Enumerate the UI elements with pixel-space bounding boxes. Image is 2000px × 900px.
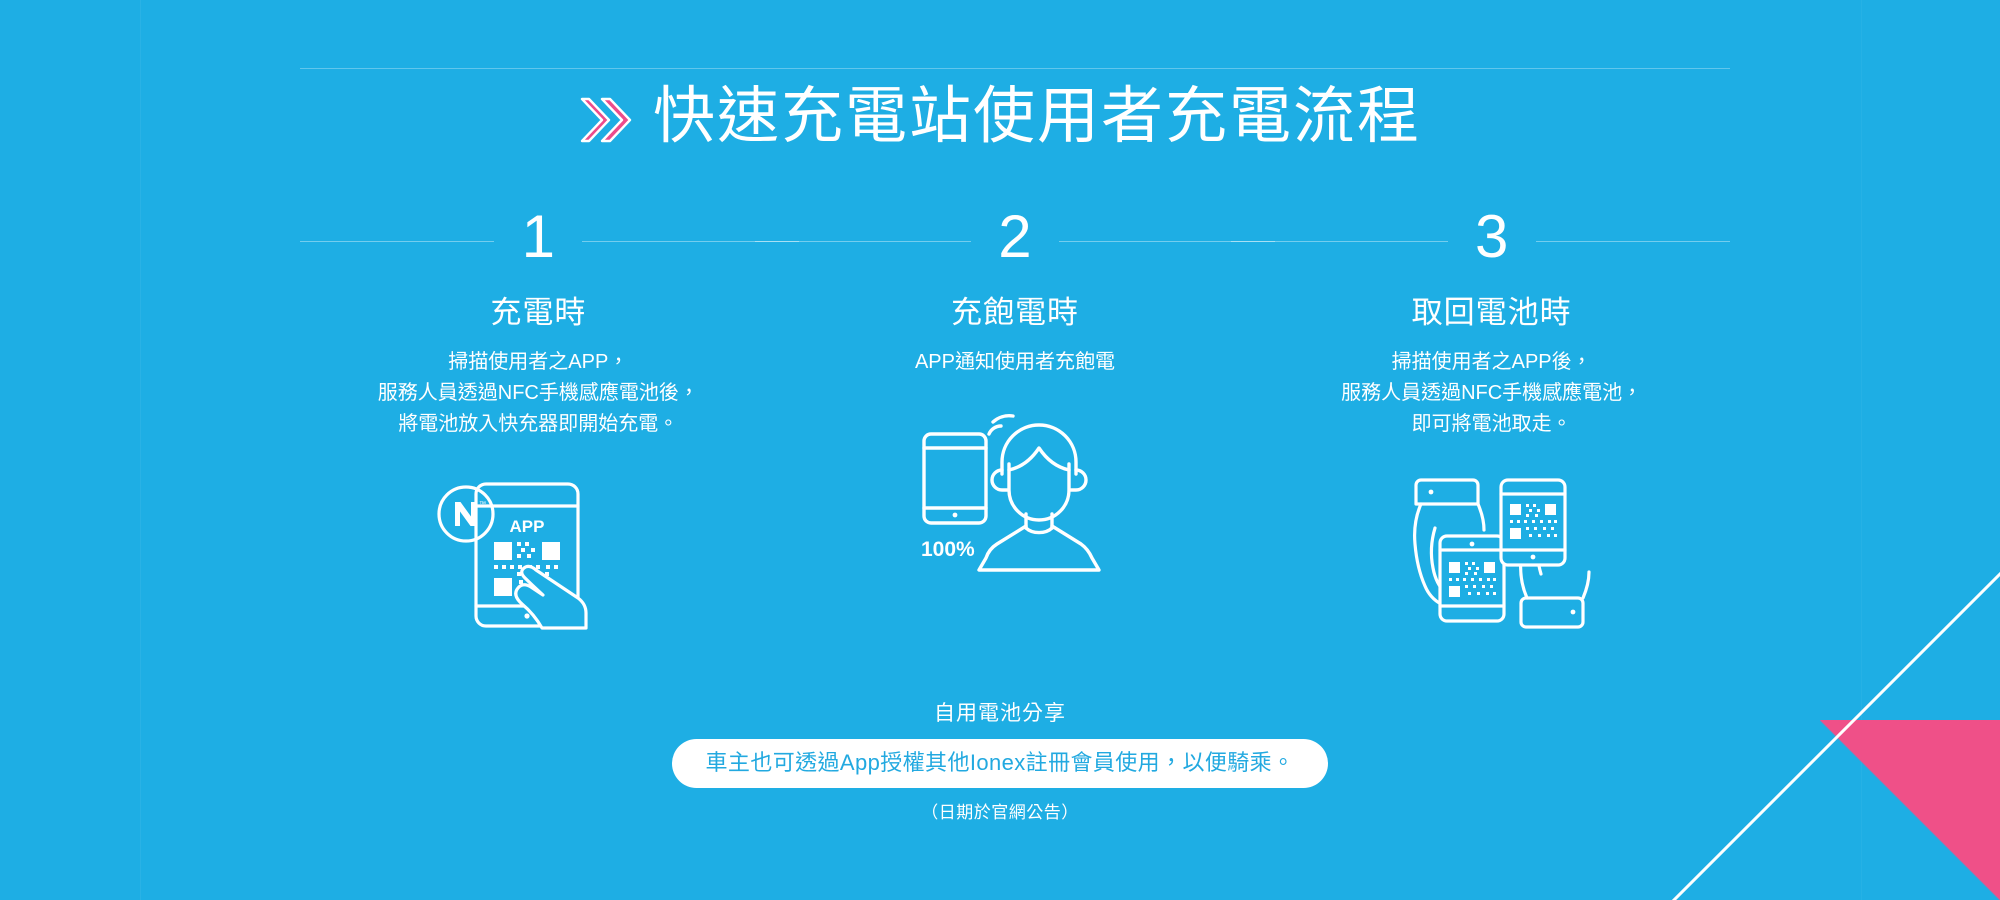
poster-content: 快速充電站使用者充電流程 1 充電時 掃描使用者之APP， 服務人員透過NFC手… <box>0 0 2000 900</box>
nfc-phone-qr-scan-icon: ™ APP <box>428 466 648 636</box>
footer-pill: 車主也可透過App授權其他Ionex註冊會員使用，以便騎乘。 <box>672 739 1329 788</box>
two-hands-phones-qr-icon <box>1377 466 1607 636</box>
phone-notification-person-icon: 100% <box>905 404 1125 574</box>
step-number-3: 3 <box>1449 206 1534 268</box>
double-chevron-right-icon <box>579 90 635 150</box>
step-number-row-2: 2 <box>777 210 1254 272</box>
page-title: 快速充電站使用者充電流程 <box>653 86 1421 148</box>
battery-percent-label: 100% <box>921 538 975 561</box>
step-heading-3: 取回電池時 <box>1412 294 1572 331</box>
step-heading-1: 充電時 <box>490 294 586 331</box>
step-number-1: 1 <box>496 206 581 268</box>
footer-note-block: 自用電池分享 車主也可透過App授權其他Ionex註冊會員使用，以便騎乘。 （日… <box>0 700 2000 824</box>
header-divider <box>300 68 1730 69</box>
app-label: APP <box>510 517 545 536</box>
step-description-1: 掃描使用者之APP， 服務人員透過NFC手機感應電池後， 將電池放入快充器即開始… <box>378 347 699 440</box>
step-illustration-2: 100% <box>905 404 1125 574</box>
step-item-2: 2 充飽電時 APP通知使用者充飽電 <box>777 210 1254 636</box>
steps-row: 1 充電時 掃描使用者之APP， 服務人員透過NFC手機感應電池後， 將電池放入… <box>300 210 1730 636</box>
step-illustration-1: ™ APP <box>428 466 648 636</box>
poster-canvas: 快速充電站使用者充電流程 1 充電時 掃描使用者之APP， 服務人員透過NFC手… <box>0 0 2000 900</box>
step-rule-left-1 <box>300 241 494 242</box>
step-rule-left-2 <box>755 241 971 242</box>
step-number-row-1: 1 <box>300 210 777 272</box>
step-description-3: 掃描使用者之APP後， 服務人員透過NFC手機感應電池， 即可將電池取走。 <box>1341 347 1642 440</box>
step-number-2: 2 <box>972 206 1057 268</box>
step-description-2: APP通知使用者充飽電 <box>915 347 1115 378</box>
step-number-row-3: 3 <box>1253 210 1730 272</box>
step-rule-left-3 <box>1231 241 1447 242</box>
svg-text:™: ™ <box>479 501 486 508</box>
step-item-3: 3 取回電池時 掃描使用者之APP後， 服務人員透過NFC手機感應電池， 即可將… <box>1253 210 1730 636</box>
step-rule-right-3 <box>1536 241 1730 242</box>
page-header: 快速充電站使用者充電流程 <box>0 84 2000 150</box>
footer-subnote: （日期於官網公告） <box>921 802 1079 824</box>
step-heading-2: 充飽電時 <box>951 294 1079 331</box>
step-illustration-3 <box>1377 466 1607 636</box>
step-item-1: 1 充電時 掃描使用者之APP， 服務人員透過NFC手機感應電池後， 將電池放入… <box>300 210 777 636</box>
footer-title: 自用電池分享 <box>934 700 1066 727</box>
